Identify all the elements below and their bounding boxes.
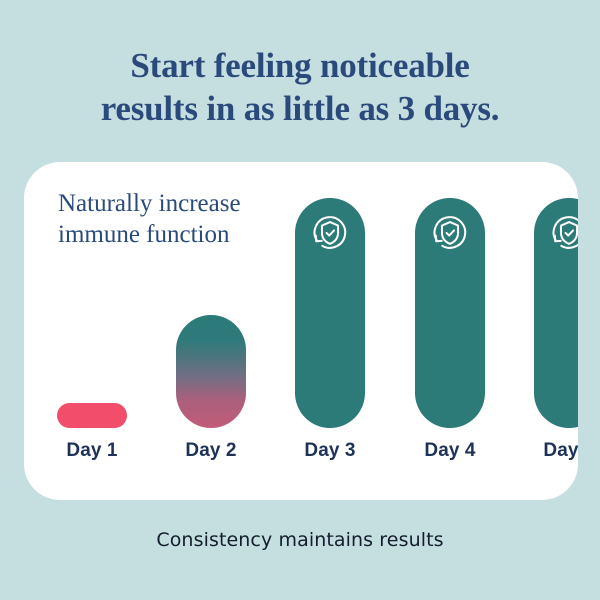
bar-column-day-2: Day 2 (176, 162, 246, 500)
bar-column-day-1: Day 1 (57, 162, 127, 500)
shield-check-refresh-icon (546, 210, 578, 256)
bar-column-day-4: Day 4 (415, 162, 485, 500)
bar-label-day-3: Day 3 (277, 440, 383, 462)
bar-chart: Day 1 Day 2 (24, 162, 578, 500)
chart-card: Naturally increase immune function Day 1… (24, 162, 578, 500)
bar-label-day-1: Day 1 (39, 440, 145, 462)
bar-label-day-4: Day 4 (397, 440, 503, 462)
bar-column-day-5: Day 5 (534, 162, 578, 500)
headline-line-2: results in as little as 3 days. (0, 87, 600, 130)
bar-day-3 (295, 198, 365, 428)
bar-day-2 (176, 315, 246, 428)
bar-label-day-2: Day 2 (158, 440, 264, 462)
headline-line-1: Start feeling noticeable (0, 44, 600, 87)
shield-check-refresh-icon (307, 210, 353, 256)
page-title: Start feeling noticeable results in as l… (0, 44, 600, 130)
promo-poster: Start feeling noticeable results in as l… (0, 0, 600, 600)
bar-day-5 (534, 198, 578, 428)
bar-column-day-3: Day 3 (295, 162, 365, 500)
bar-label-day-5: Day 5 (516, 440, 578, 462)
bar-day-4 (415, 198, 485, 428)
bar-day-1 (57, 403, 127, 428)
footer-caption: Consistency maintains results (0, 529, 600, 551)
shield-check-refresh-icon (427, 210, 473, 256)
